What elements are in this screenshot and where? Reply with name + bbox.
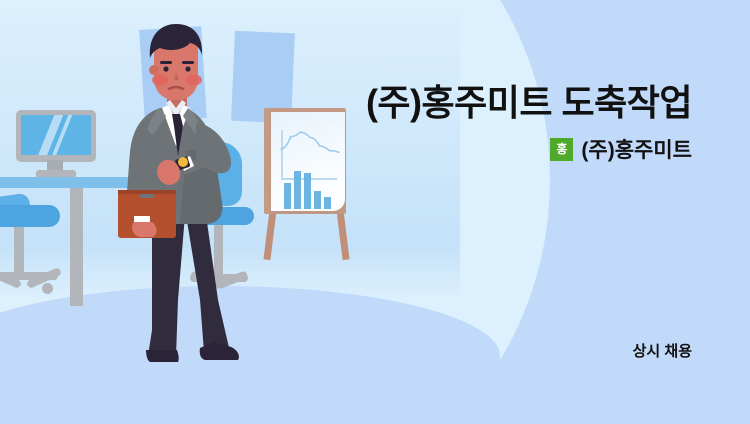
chart-trend-curve bbox=[279, 126, 341, 166]
chart-bar bbox=[314, 191, 321, 209]
eyebrow-right bbox=[182, 61, 194, 64]
cheek-left bbox=[152, 75, 168, 86]
leg-right bbox=[186, 215, 230, 352]
chart-bar bbox=[294, 171, 301, 209]
ear bbox=[149, 65, 159, 75]
company-badge: 홍 bbox=[550, 138, 573, 161]
shoe-left bbox=[146, 350, 179, 362]
page-title: (주)홍주미트 도축작업 bbox=[366, 74, 692, 126]
company-row: 홍 (주)홍주미트 bbox=[550, 134, 692, 164]
businessman-illustration bbox=[0, 0, 260, 424]
company-name[interactable]: (주)홍주미트 bbox=[581, 134, 692, 164]
job-posting-banner: (주)홍주미트 도축작업 홍 (주)홍주미트 상시 채용 bbox=[0, 0, 750, 424]
flipchart-paper bbox=[271, 112, 345, 211]
eyebrow-left bbox=[160, 61, 172, 64]
eye-left bbox=[163, 66, 168, 71]
cheek-right bbox=[186, 75, 202, 86]
eye-right bbox=[185, 66, 190, 71]
chart-bar bbox=[284, 183, 291, 209]
briefcase-top-edge bbox=[118, 190, 176, 194]
chart-bars-group bbox=[284, 165, 331, 209]
hiring-type-label: 상시 채용 bbox=[633, 340, 692, 361]
wristwatch-face bbox=[178, 157, 188, 167]
chart-bar bbox=[324, 197, 331, 209]
chart-bar bbox=[304, 173, 311, 209]
hand-left bbox=[132, 222, 157, 237]
